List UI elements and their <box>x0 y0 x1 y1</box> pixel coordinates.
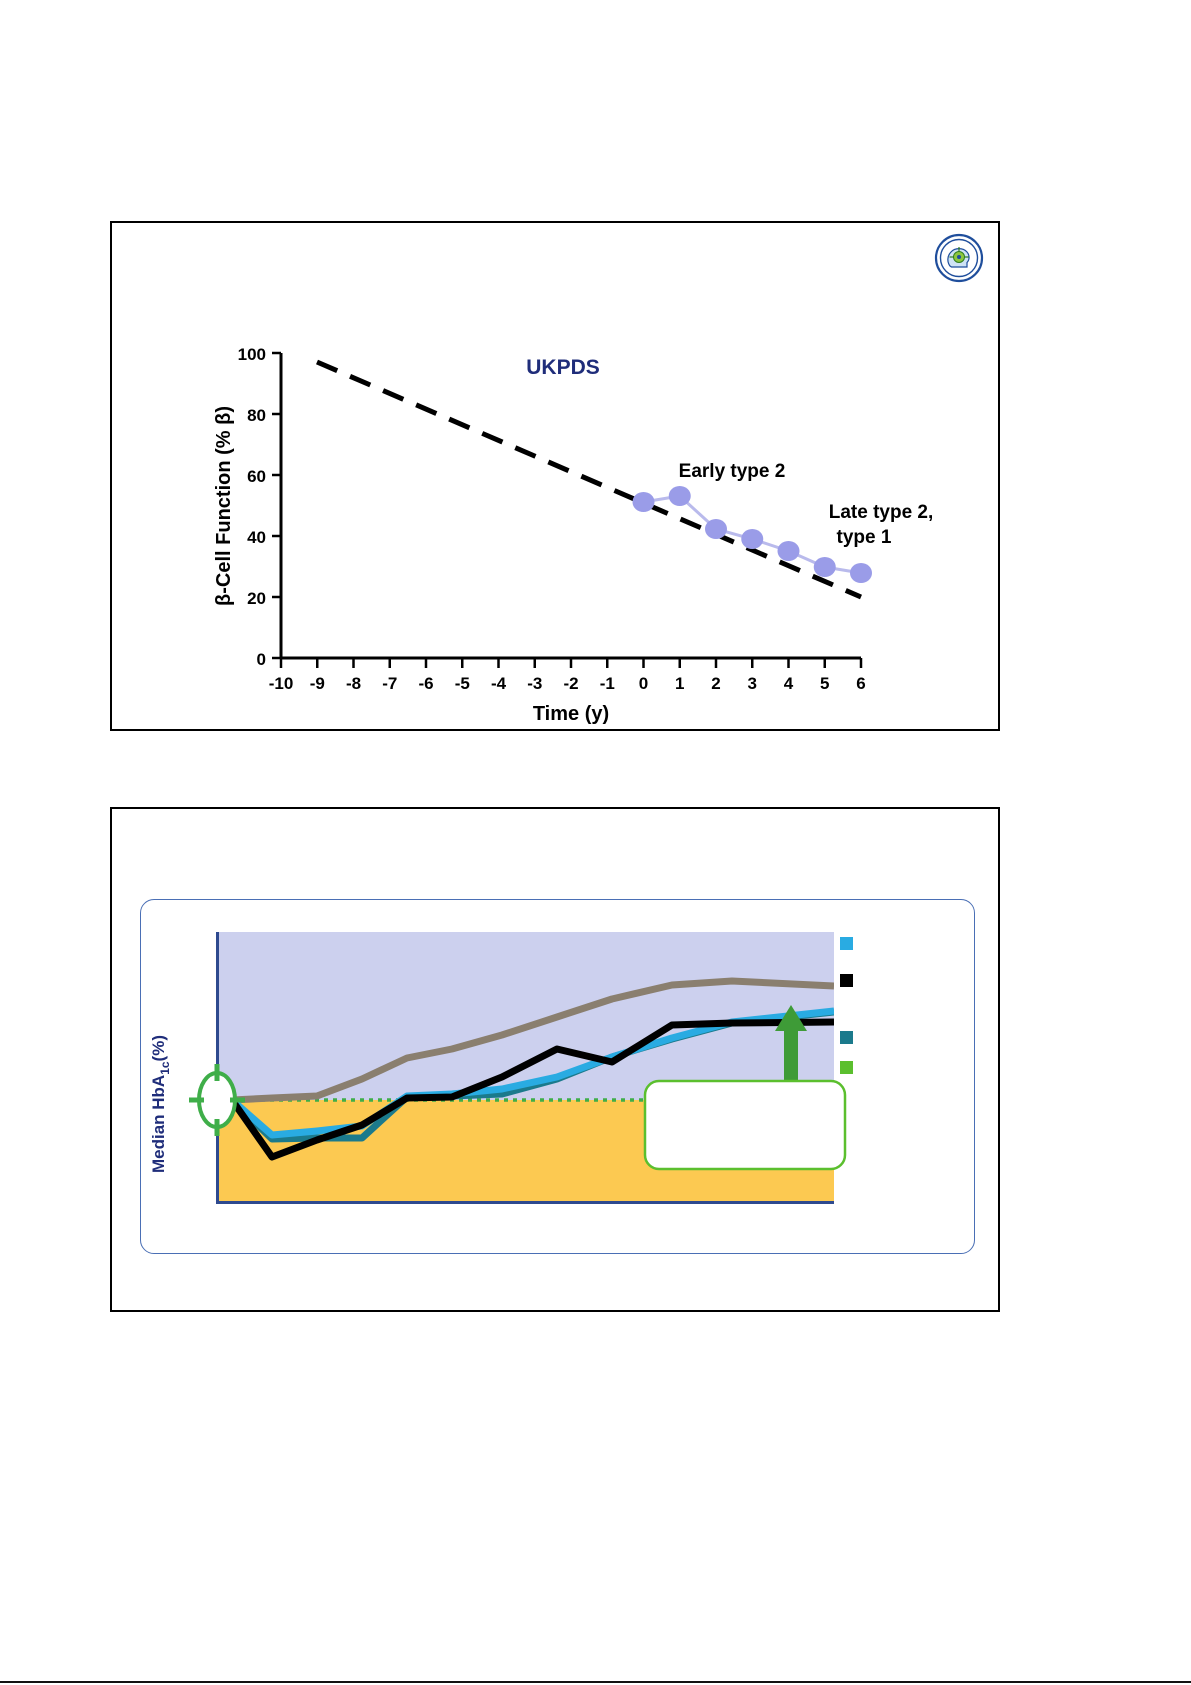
page-bottom-rule <box>0 1681 1191 1683</box>
data-point <box>778 541 800 561</box>
annotation-late-type-2-line2: type 1 <box>837 527 892 548</box>
svg-text:1: 1 <box>675 674 684 693</box>
y-axis-title: Median HbA1c(%) <box>149 1035 172 1173</box>
svg-text:100: 100 <box>238 345 266 364</box>
legend-swatch-3 <box>840 1031 853 1044</box>
svg-text:20: 20 <box>247 589 266 608</box>
band-above-target <box>216 932 834 1100</box>
data-point <box>850 563 872 583</box>
svg-text:0: 0 <box>639 674 648 693</box>
annotation-ukpds: UKPDS <box>526 356 600 379</box>
slide-beta-cell-function: 100 80 60 40 20 0 <box>110 221 1000 731</box>
svg-text:-9: -9 <box>310 674 325 693</box>
svg-text:3: 3 <box>748 674 757 693</box>
svg-text:-2: -2 <box>563 674 578 693</box>
svg-text:-8: -8 <box>346 674 361 693</box>
data-point <box>741 529 763 549</box>
data-point <box>814 557 836 577</box>
svg-text:80: 80 <box>247 406 266 425</box>
svg-text:-10: -10 <box>269 674 294 693</box>
y-axis-title: β-Cell Function (% β) <box>213 406 235 606</box>
median-hba1c-chart: Median HbA1c(%) <box>112 809 1002 1314</box>
svg-text:-5: -5 <box>455 674 470 693</box>
y-axis-tick-labels: 100 80 60 40 20 0 <box>238 345 266 669</box>
legend-swatch-1 <box>840 937 853 950</box>
annotation-early-type-2: Early type 2 <box>679 461 786 482</box>
svg-text:60: 60 <box>247 467 266 486</box>
x-axis-tick-labels: -10 -9 -8 -7 -6 -5 -4 -3 -2 -1 0 1 2 3 4… <box>269 674 866 693</box>
svg-text:0: 0 <box>257 650 266 669</box>
svg-text:40: 40 <box>247 528 266 547</box>
svg-text:-3: -3 <box>527 674 542 693</box>
svg-text:6: 6 <box>856 674 865 693</box>
svg-text:-6: -6 <box>418 674 433 693</box>
page-root: 100 80 60 40 20 0 <box>0 0 1191 1685</box>
legend-swatch-2 <box>840 974 853 987</box>
svg-text:5: 5 <box>820 674 829 693</box>
ukpds-beta-cell-chart: 100 80 60 40 20 0 <box>112 223 1002 733</box>
slide-median-hba1c: Median HbA1c(%) <box>110 807 1000 1312</box>
data-point <box>633 492 655 512</box>
x-axis-title: Time (y) <box>533 703 609 725</box>
legend-swatch-4 <box>840 1061 853 1074</box>
data-point <box>705 519 727 539</box>
svg-text:-4: -4 <box>491 674 507 693</box>
svg-text:4: 4 <box>784 674 794 693</box>
svg-text:-7: -7 <box>382 674 397 693</box>
svg-text:-1: -1 <box>600 674 615 693</box>
data-point <box>669 486 691 506</box>
svg-text:2: 2 <box>711 674 720 693</box>
callout-box <box>645 1081 845 1169</box>
annotation-late-type-2-line1: Late type 2, <box>829 502 934 523</box>
